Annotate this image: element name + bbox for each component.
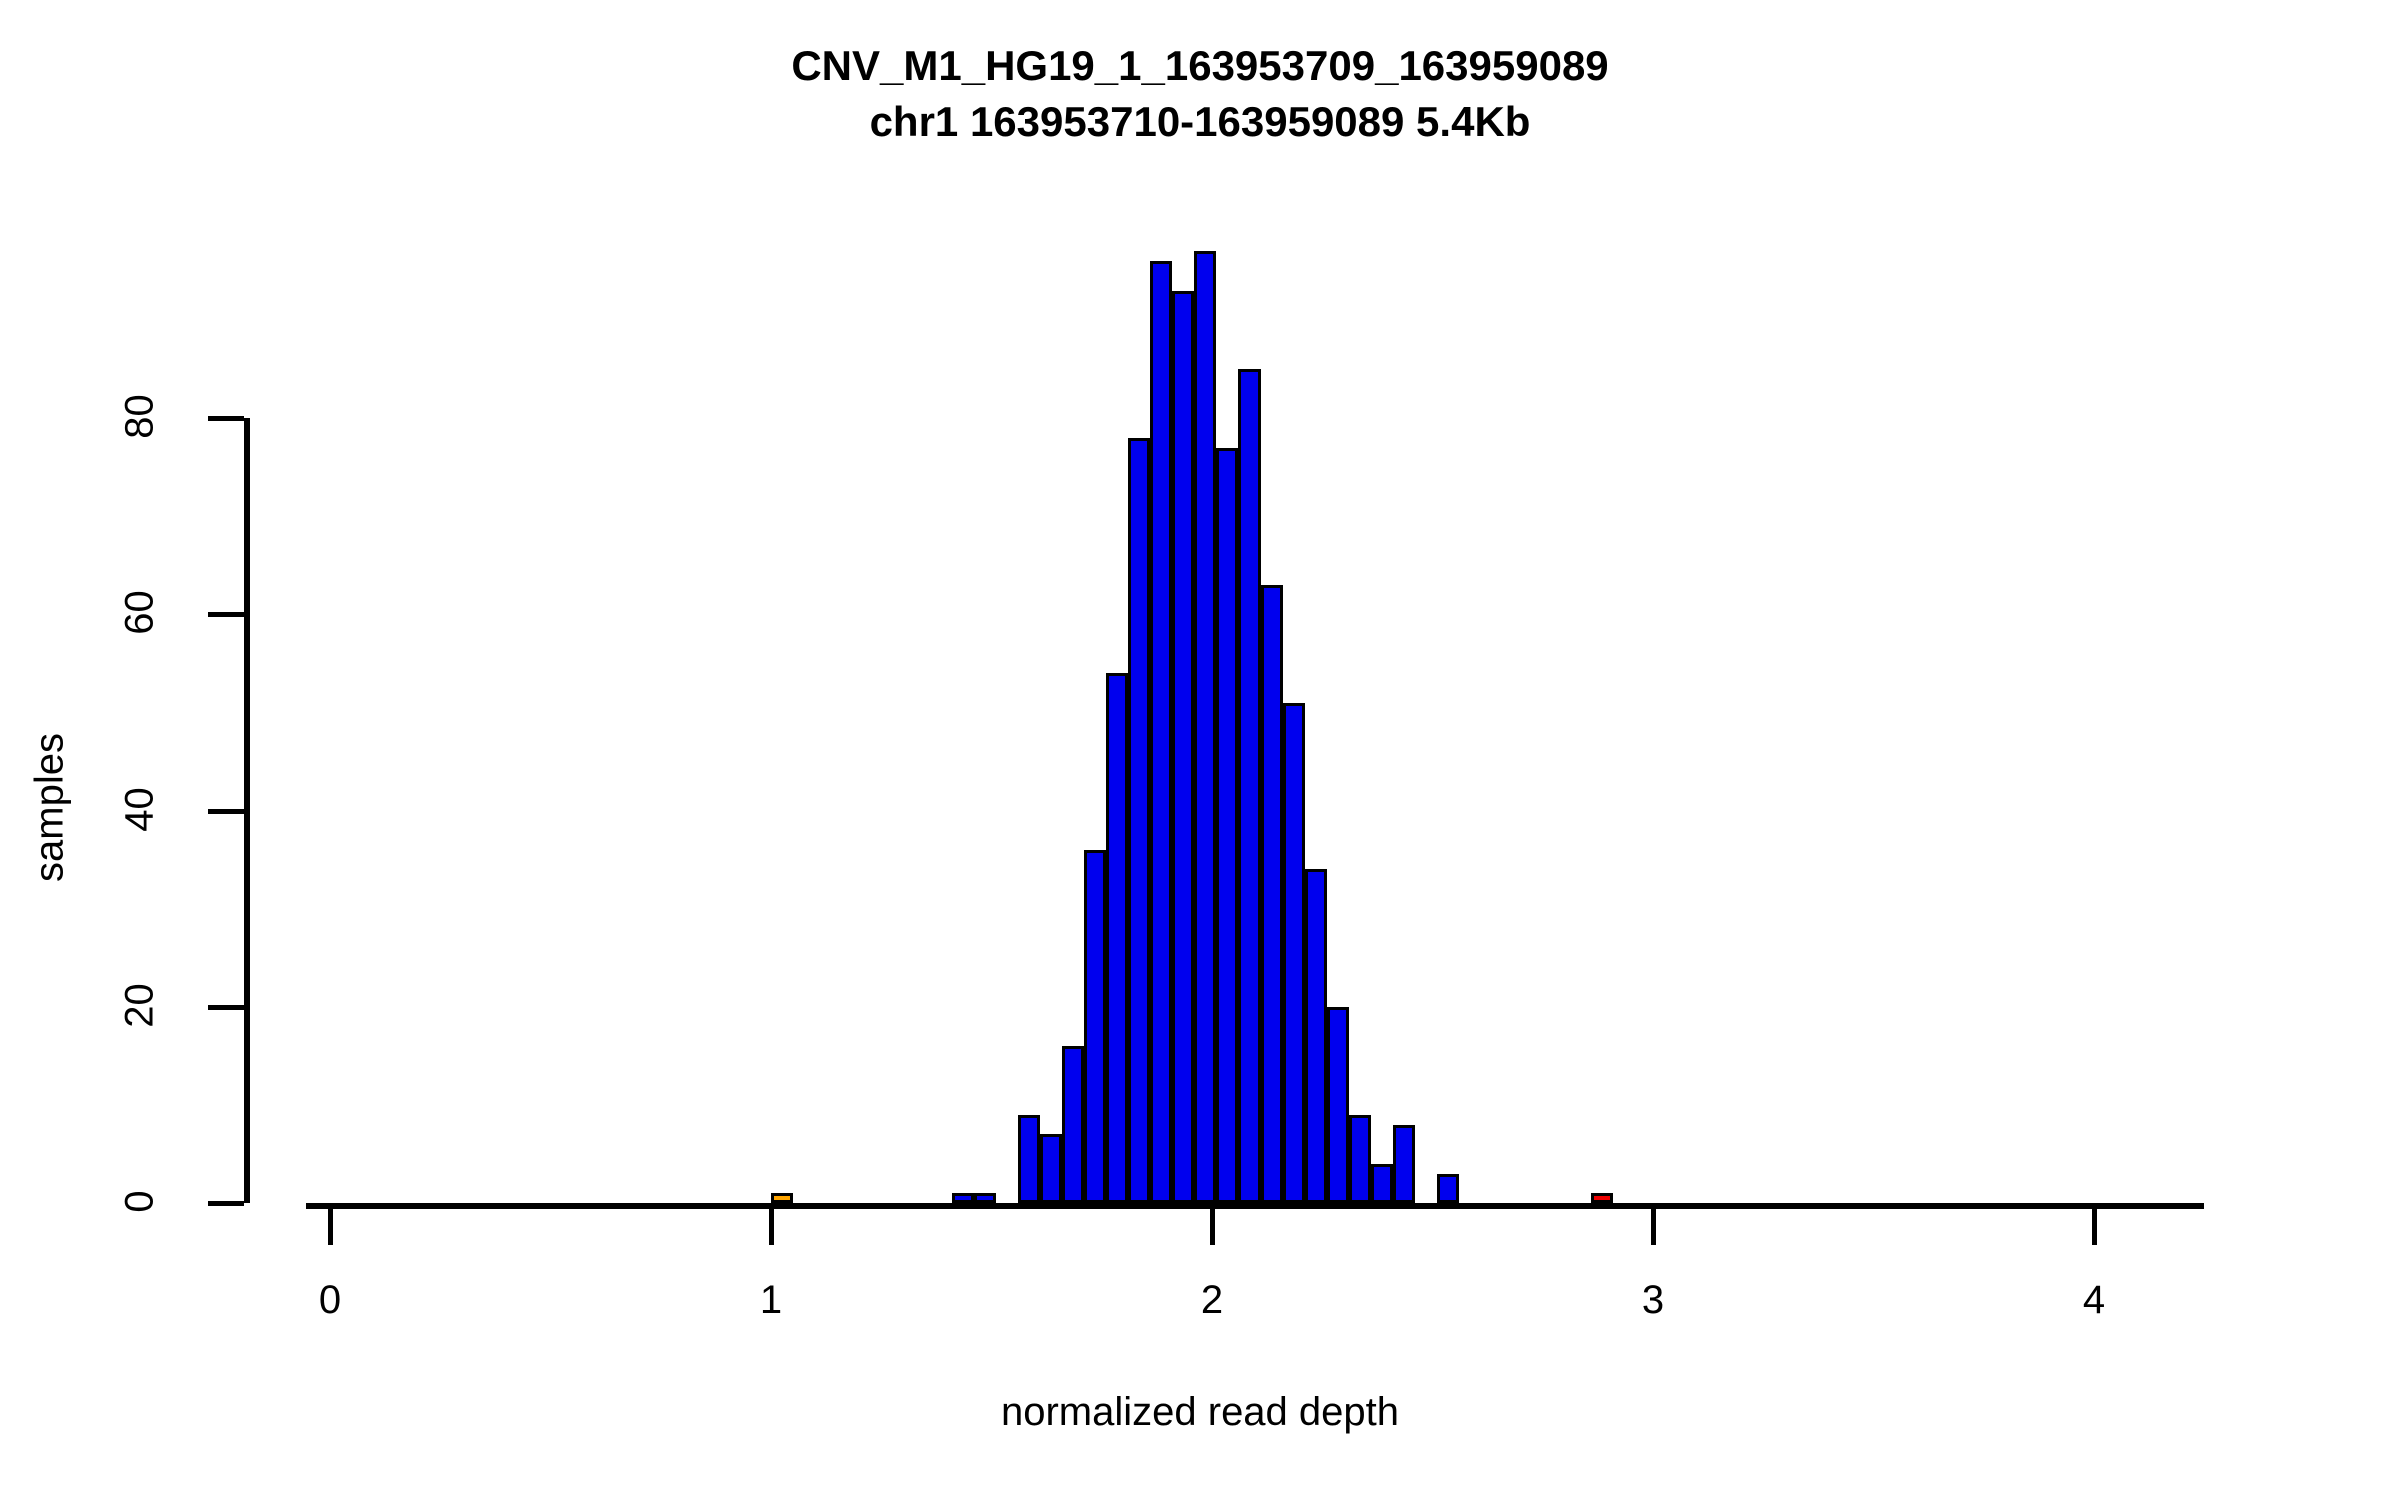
x-tick-label-4: 4 <box>2034 1278 2154 1323</box>
x-tick-label-0: 0 <box>270 1278 390 1323</box>
x-tick-label-1: 1 <box>711 1278 831 1323</box>
y-axis-tick <box>208 612 244 617</box>
histogram-bar <box>1393 1125 1415 1203</box>
y-tick-label-60: 60 <box>118 563 163 663</box>
x-axis-tick <box>2092 1209 2097 1245</box>
y-axis-line <box>244 418 250 1203</box>
x-tick-label-3: 3 <box>1593 1278 1713 1323</box>
histogram-figure: CNV_M1_HG19_1_163953709_163959089 chr1 1… <box>0 0 2400 1500</box>
histogram-bar <box>1283 703 1305 1203</box>
y-tick-label-40: 40 <box>118 759 163 859</box>
plot-area: 01234020406080normalized read depthsampl… <box>0 0 2400 1500</box>
histogram-bar <box>1194 251 1216 1203</box>
y-axis-tick <box>208 809 244 814</box>
y-axis-title: samples <box>28 677 73 937</box>
x-axis-title: normalized read depth <box>0 1390 2400 1435</box>
x-axis-tick <box>769 1209 774 1245</box>
x-axis-tick <box>1210 1209 1215 1245</box>
histogram-bar <box>1216 448 1238 1203</box>
histogram-bar <box>952 1193 974 1203</box>
x-axis-line <box>306 1203 2205 1209</box>
y-tick-label-80: 80 <box>118 367 163 467</box>
histogram-bar <box>1261 585 1283 1203</box>
histogram-bar <box>1106 673 1128 1203</box>
histogram-bar <box>1018 1115 1040 1203</box>
x-axis-tick <box>1651 1209 1656 1245</box>
y-tick-label-20: 20 <box>118 955 163 1055</box>
x-axis-tick <box>328 1209 333 1245</box>
x-tick-label-2: 2 <box>1152 1278 1272 1323</box>
histogram-bar <box>1305 869 1327 1203</box>
histogram-bar <box>1437 1174 1459 1203</box>
y-axis-tick <box>208 416 244 421</box>
histogram-bar <box>1150 261 1172 1203</box>
histogram-bar <box>1040 1134 1062 1203</box>
histogram-bar <box>1172 291 1194 1203</box>
histogram-bar <box>1128 438 1150 1203</box>
y-tick-label-0: 0 <box>118 1152 163 1252</box>
histogram-bar <box>1371 1164 1393 1203</box>
histogram-bar <box>974 1193 996 1203</box>
histogram-bar <box>1591 1193 1613 1203</box>
y-axis-tick <box>208 1201 244 1206</box>
histogram-bar <box>1349 1115 1371 1203</box>
histogram-bar <box>1062 1046 1084 1203</box>
histogram-bar <box>1084 850 1106 1203</box>
histogram-bar <box>1327 1007 1349 1203</box>
y-axis-tick <box>208 1005 244 1010</box>
histogram-bar <box>771 1193 793 1203</box>
histogram-bar <box>1238 369 1260 1203</box>
